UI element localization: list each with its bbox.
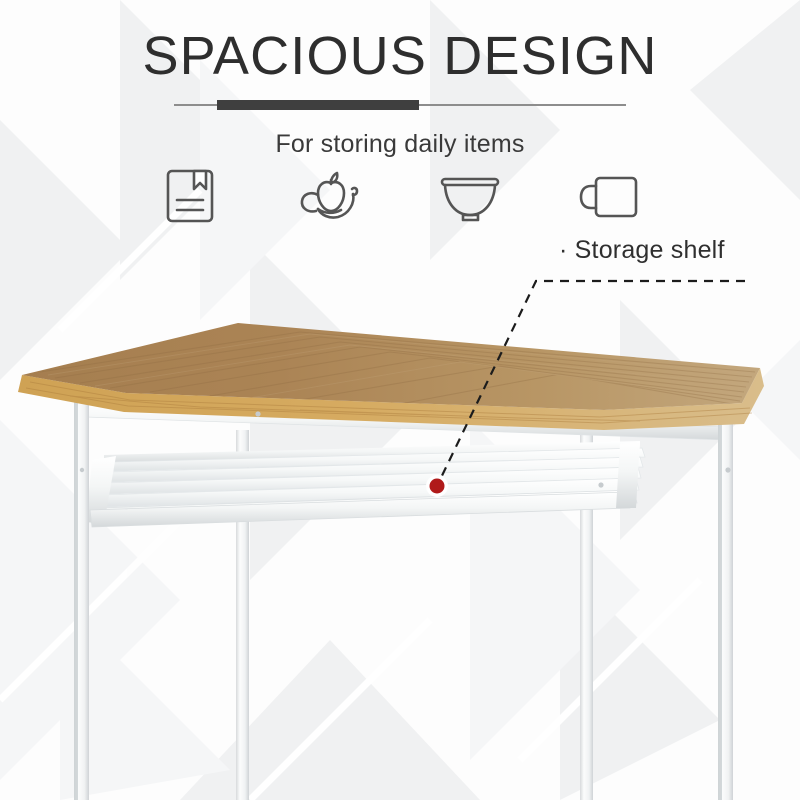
banner-header: SPACIOUS DESIGN For storing daily items [0,0,800,159]
book-icon [164,167,216,225]
feature-icon-row [0,163,800,229]
page-title: SPACIOUS DESIGN [0,0,800,85]
callout-label-storage-shelf: · Storage shelf [559,236,725,265]
product-marketing-image: SPACIOUS DESIGN For storing daily items [0,0,800,800]
bowl-icon [437,167,503,225]
mug-icon [579,167,641,225]
feature-item-fruit [294,165,366,227]
divider-accent-bar [217,100,419,110]
shelf-rail-right [616,442,640,508]
table-leg-front-left [74,398,89,800]
feature-item-bowl [434,165,506,227]
table-leg-front-right [718,416,733,800]
page-subtitle: For storing daily items [0,130,800,159]
feature-item-mug [574,165,646,227]
fruit-icon [295,167,365,225]
feature-item-book [154,165,226,227]
title-divider [174,98,626,112]
